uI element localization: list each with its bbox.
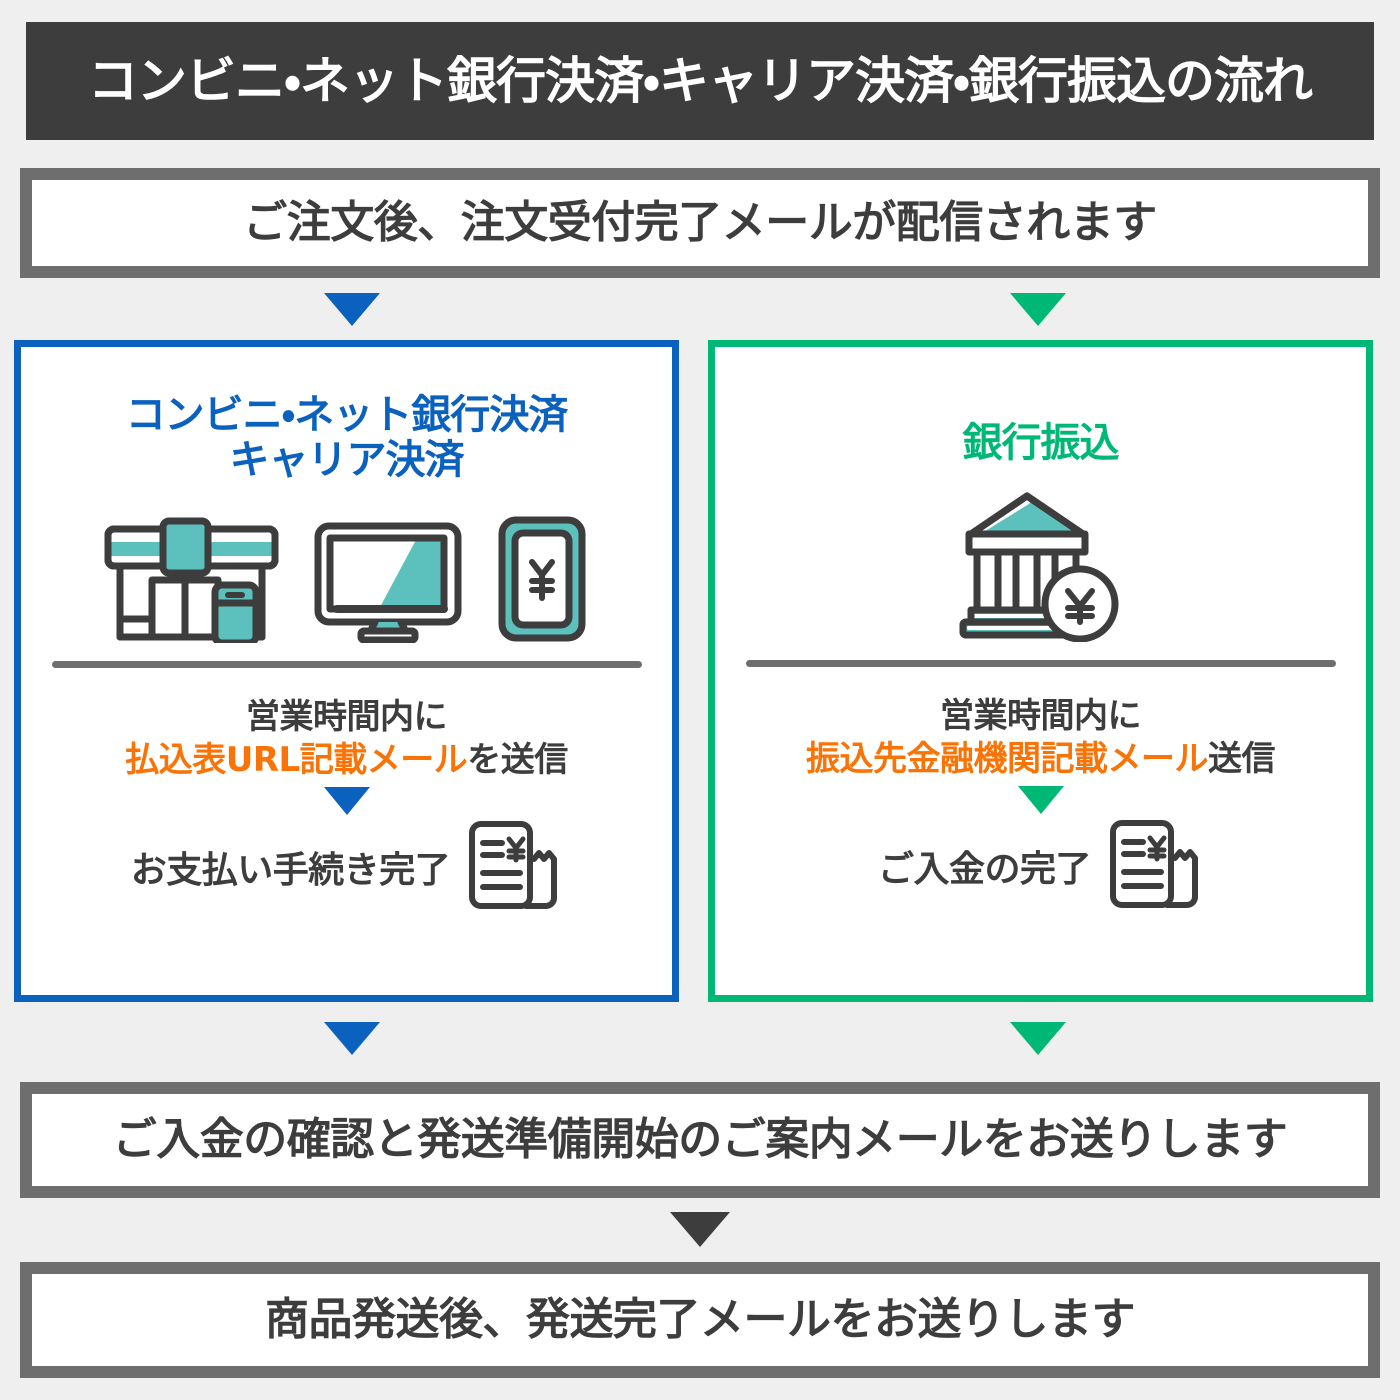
page-title: コンビニ・ネット銀行決済・キャリア決済・銀行振込の流れ xyxy=(88,56,1312,106)
arrow-down-to-shipped-icon xyxy=(670,1212,730,1247)
panel-convenience-note-suffix: を送信 xyxy=(467,740,568,780)
arrow-down-from-bank-icon xyxy=(1010,1022,1066,1055)
panel-convenience-heading: コンビニ・ネット銀行決済 キャリア決済 xyxy=(126,393,568,483)
desktop-monitor-icon xyxy=(313,521,463,643)
arrow-down-to-convenience-icon xyxy=(324,293,380,326)
panel-bank-final: ご入金の完了 xyxy=(878,818,1203,914)
step-order-received-label: ご注文後、注文受付完了メールが配信されます xyxy=(243,201,1157,245)
arrow-down-from-convenience-icon xyxy=(324,1022,380,1055)
panel-bank-divider xyxy=(746,660,1336,667)
panel-bank-heading: 銀行振込 xyxy=(963,421,1119,466)
panel-convenience-note: 営業時間内に 払込表URL記載メールを送信 xyxy=(125,696,567,783)
arrow-down-inside-convenience-icon xyxy=(324,787,370,815)
bank-building-yen-icon xyxy=(955,492,1127,642)
payment-flow-diagram: コンビニ・ネット銀行決済・キャリア決済・銀行振込の流れ ご注文後、注文受付完了メ… xyxy=(0,0,1400,1400)
panel-convenience-final: お支払い手続き完了 xyxy=(131,819,563,915)
step-order-received: ご注文後、注文受付完了メールが配信されます xyxy=(20,168,1380,278)
panel-convenience-note-highlight: 払込表URL記載メール xyxy=(125,740,467,780)
panel-convenience-icon-row xyxy=(104,503,589,643)
panel-bank-icon-row xyxy=(955,502,1127,642)
arrow-down-inside-bank-icon xyxy=(1018,786,1064,814)
panel-convenience-divider xyxy=(52,661,642,668)
convenience-store-icon xyxy=(104,515,279,643)
panel-convenience-final-label: お支払い手続き完了 xyxy=(131,841,451,893)
panel-bank-note-line1: 営業時間内に xyxy=(806,695,1275,739)
panel-bank-final-label: ご入金の完了 xyxy=(878,840,1091,892)
panel-convenience-note-line2: 払込表URL記載メールを送信 xyxy=(125,739,567,783)
panel-convenience-note-line1: 営業時間内に xyxy=(125,696,567,740)
step-payment-confirmed: ご入金の確認と発送準備開始のご案内メールをお送りします xyxy=(20,1082,1380,1198)
panel-convenience-payment: コンビニ・ネット銀行決済 キャリア決済 xyxy=(14,340,679,1002)
receipt-yen-icon xyxy=(464,819,562,915)
step-shipped-label: 商品発送後、発送完了メールをお送りします xyxy=(265,1298,1135,1342)
page-title-bar: コンビニ・ネット銀行決済・キャリア決済・銀行振込の流れ xyxy=(26,22,1374,140)
panel-bank-note-suffix: 送信 xyxy=(1208,739,1275,779)
step-shipped: 商品発送後、発送完了メールをお送りします xyxy=(20,1262,1380,1378)
panel-bank-note-line2: 振込先金融機関記載メール送信 xyxy=(806,738,1275,782)
receipt-yen-icon xyxy=(1105,818,1203,914)
step-payment-confirmed-label: ご入金の確認と発送準備開始のご案内メールをお送りします xyxy=(113,1118,1288,1162)
panel-bank-transfer: 銀行振込 xyxy=(708,340,1373,1002)
panel-bank-note: 営業時間内に 振込先金融機関記載メール送信 xyxy=(806,695,1275,782)
arrow-down-to-bank-icon xyxy=(1010,293,1066,326)
panel-bank-note-highlight: 振込先金融機関記載メール xyxy=(806,739,1208,779)
smartphone-yen-icon xyxy=(497,515,589,643)
